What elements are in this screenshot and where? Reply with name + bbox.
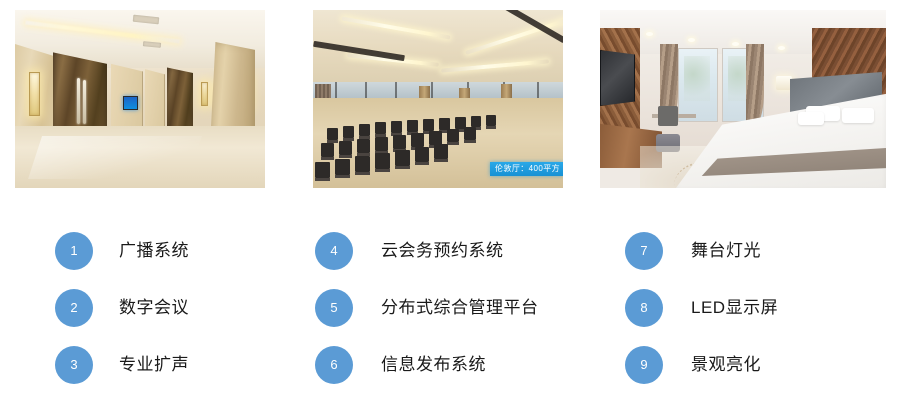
feature-item-stage-lighting[interactable]: 7 舞台灯光 <box>625 232 870 270</box>
wall-sconce-icon <box>29 72 40 116</box>
photo-hotel-lift-lobby[interactable] <box>15 10 265 188</box>
feature-item-led-display[interactable]: 8 LED显示屏 <box>625 289 870 327</box>
photo-conference-hall[interactable]: 伦敦厅：400平方 <box>313 10 563 188</box>
television-screen <box>600 50 635 106</box>
hall-chair <box>335 159 350 175</box>
feature-number-badge: 6 <box>315 346 353 384</box>
hall-chair <box>355 156 370 172</box>
hall-chair <box>415 147 429 162</box>
feature-label: 分布式综合管理平台 <box>381 298 539 318</box>
feature-number-badge: 2 <box>55 289 93 327</box>
feature-number-badge: 7 <box>625 232 663 270</box>
hall-chair <box>423 119 434 131</box>
downlight-icon <box>688 38 695 42</box>
feature-number-badge: 8 <box>625 289 663 327</box>
feature-label: 景观亮化 <box>691 355 761 375</box>
feature-item-professional-sound[interactable]: 3 专业扩声 <box>55 346 300 384</box>
downlight-icon <box>778 46 785 50</box>
floor-lamp-icon <box>776 76 792 90</box>
feature-number-badge: 4 <box>315 232 353 270</box>
feature-label: LED显示屏 <box>691 298 778 318</box>
hall-chair <box>315 162 330 178</box>
feature-column-1: 1 广播系统 2 数字会议 3 专业扩声 <box>0 198 300 414</box>
feature-column-2: 4 云会务预约系统 5 分布式综合管理平台 6 信息发布系统 <box>300 198 600 414</box>
hall-chair <box>327 128 338 140</box>
hall-chair <box>321 143 334 157</box>
info-display-screen <box>123 96 138 110</box>
feature-number-badge: 1 <box>55 232 93 270</box>
elevator-handle <box>77 78 80 124</box>
photo-room-scene <box>600 10 886 188</box>
hall-chair <box>393 135 406 149</box>
hall-chair <box>471 116 481 127</box>
feature-item-broadcast-system[interactable]: 1 广播系统 <box>55 232 300 270</box>
feature-label: 舞台灯光 <box>691 241 761 261</box>
hall-chair <box>407 120 418 132</box>
hall-chair <box>339 141 352 155</box>
downlight-icon <box>646 32 653 36</box>
hall-chair <box>391 121 402 133</box>
feature-label: 广播系统 <box>119 241 189 261</box>
hall-chair <box>429 131 442 145</box>
downlight-icon <box>732 42 739 46</box>
hall-chair <box>411 133 424 147</box>
hall-chair <box>343 126 354 138</box>
hall-chair <box>486 115 496 126</box>
room-window <box>678 48 718 122</box>
feature-item-landscape-lighting[interactable]: 9 景观亮化 <box>625 346 870 384</box>
desk-chair <box>658 106 678 126</box>
hall-chair <box>375 153 390 169</box>
elevator-handle <box>83 80 86 124</box>
photo-hall-scene: 伦敦厅：400平方 <box>313 10 563 188</box>
hall-chair <box>395 150 410 166</box>
feature-item-cloud-booking-system[interactable]: 4 云会务预约系统 <box>315 232 560 270</box>
pillow <box>798 112 824 125</box>
feature-label: 云会务预约系统 <box>381 241 504 261</box>
wall-sconce-icon <box>201 82 208 106</box>
feature-item-digital-conference[interactable]: 2 数字会议 <box>55 289 300 327</box>
feature-item-information-release-system[interactable]: 6 信息发布系统 <box>315 346 560 384</box>
hall-chair <box>447 129 459 142</box>
window-curtain <box>746 44 764 122</box>
feature-number-badge: 9 <box>625 346 663 384</box>
feature-label: 信息发布系统 <box>381 355 486 375</box>
feature-list: 1 广播系统 2 数字会议 3 专业扩声 4 云会务预约系统 5 分布式综合管理… <box>0 198 900 414</box>
feature-label: 数字会议 <box>119 298 189 318</box>
hall-chair <box>375 137 388 151</box>
photo-gallery: 伦敦厅：400平方 <box>0 0 900 198</box>
feature-column-3: 7 舞台灯光 8 LED显示屏 9 景观亮化 <box>600 198 900 414</box>
feature-number-badge: 5 <box>315 289 353 327</box>
photo-guest-room[interactable] <box>600 10 886 188</box>
hall-chair <box>434 144 448 159</box>
feature-number-badge: 3 <box>55 346 93 384</box>
feature-item-distributed-management-platform[interactable]: 5 分布式综合管理平台 <box>315 289 560 327</box>
hall-chair <box>359 124 370 136</box>
photo-lobby-scene <box>15 10 265 188</box>
hall-chair <box>464 127 476 140</box>
pillow <box>842 108 874 123</box>
lobby-floor <box>15 126 265 188</box>
hall-chair <box>357 139 370 153</box>
hall-chair <box>375 122 386 134</box>
hall-size-caption: 伦敦厅：400平方 <box>490 162 563 176</box>
feature-label: 专业扩声 <box>119 355 189 375</box>
